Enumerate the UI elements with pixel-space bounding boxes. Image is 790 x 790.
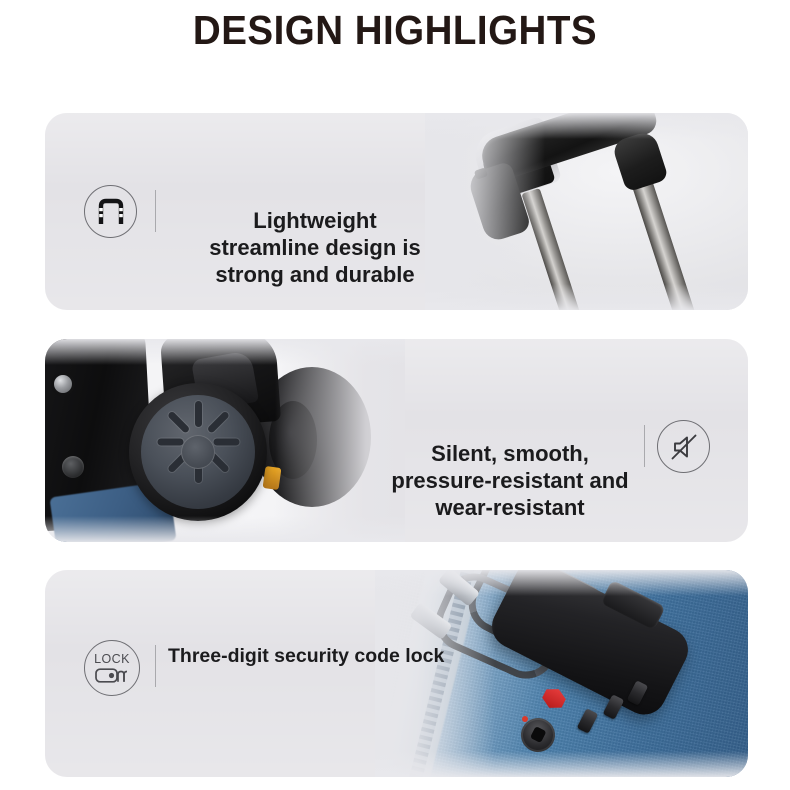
- photo-fade-bottom: [45, 516, 405, 542]
- front-wheel-hub-center: [181, 435, 215, 469]
- tsa-combination-lock-photo: [375, 570, 748, 777]
- feature-text-wheels: Silent, smooth, pressure-resistant and w…: [380, 441, 640, 521]
- photo-fade-top: [375, 570, 748, 596]
- telescopic-handle-icon: [84, 185, 137, 238]
- bracket-stud: [54, 375, 72, 393]
- feature-divider: [155, 645, 156, 687]
- lock-icon-label: LOCK: [94, 653, 130, 666]
- photo-fade-bottom: [375, 751, 748, 777]
- feature-card-lock: [45, 570, 748, 777]
- photo-fade-left: [375, 570, 495, 777]
- wheel-spoke: [214, 439, 240, 446]
- photo-fade-left: [425, 113, 545, 310]
- feature-divider: [155, 190, 156, 232]
- wheel-spoke: [195, 401, 202, 427]
- telescoping-trolley-handle-photo: [425, 113, 748, 310]
- feature-divider: [644, 425, 645, 467]
- wheel-spoke: [158, 439, 184, 446]
- feature-text-handle: Lightweight streamline design is strong …: [195, 208, 435, 288]
- photo-fade-top: [45, 339, 405, 365]
- bracket-hole: [62, 456, 84, 478]
- lock-indicator-dot: [522, 716, 528, 722]
- photo-fade-bottom: [425, 284, 748, 310]
- combination-lock-icon: LOCK: [84, 640, 140, 696]
- spinner-wheel-photo: [45, 339, 405, 542]
- photo-fade-top: [425, 113, 748, 139]
- page-title: DESIGN HIGHLIGHTS: [24, 8, 767, 53]
- feature-text-lock: Three-digit security code lock: [168, 645, 468, 669]
- mute-speaker-icon: [657, 420, 710, 473]
